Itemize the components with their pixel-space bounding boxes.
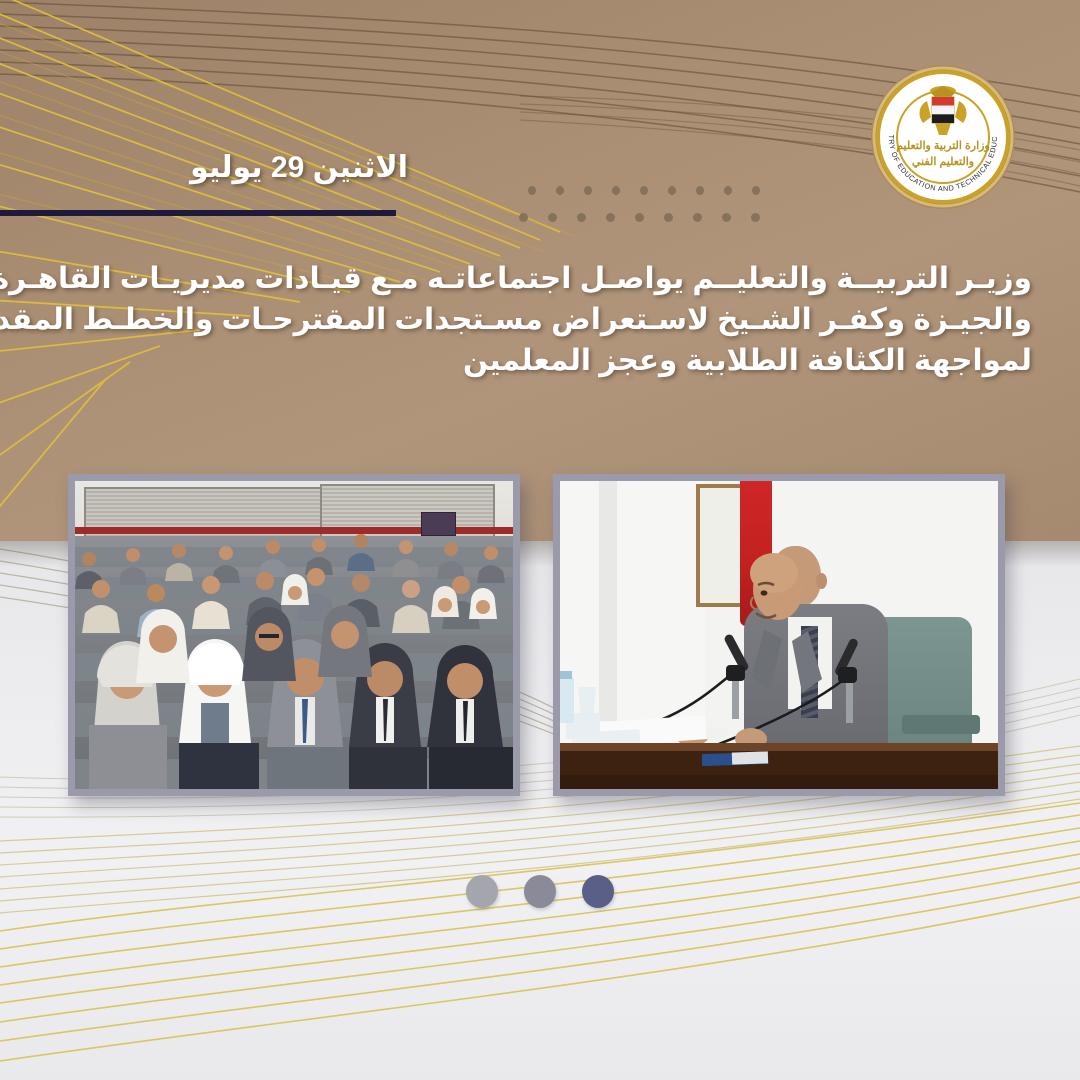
grid-dot — [668, 186, 676, 195]
grid-dot — [584, 186, 592, 195]
grid-dot — [606, 213, 615, 222]
minister-scene — [560, 481, 998, 789]
grid-dot — [693, 213, 702, 222]
grid-dot — [612, 186, 620, 195]
audience-figures — [75, 481, 513, 789]
desk-surface — [560, 743, 998, 789]
decorative-dot-grid — [528, 186, 780, 230]
ministry-seal-icon: وزارة التربية والتعليم والتعليم الفني MI… — [869, 63, 1017, 211]
auditorium-scene — [75, 481, 513, 789]
minister-lapels — [752, 629, 822, 693]
minister-details — [560, 481, 998, 789]
grid-dot — [696, 186, 704, 195]
headline-line-1: وزيـر التربيــة والتعليــم يواصـل اجتماع… — [48, 258, 1032, 299]
grid-dot — [640, 186, 648, 195]
photo-auditorium-audience[interactable] — [68, 474, 520, 796]
grid-dot — [548, 213, 557, 222]
pagination-dot-1[interactable] — [582, 875, 614, 908]
headline-line-3: لمواجهة الكثافة الطلابية وعجز المعلمين — [48, 340, 1032, 381]
grid-dot — [556, 186, 564, 195]
minister-face — [750, 553, 803, 620]
pagination-dot-3[interactable] — [466, 875, 498, 908]
svg-text:وزارة التربية والتعليم: وزارة التربية والتعليم — [896, 140, 990, 152]
grid-dot — [664, 213, 673, 222]
grid-dot — [528, 186, 536, 195]
headline-line-2: والجيـزة وكفـر الشـيخ لاسـتعراض مسـتجدات… — [48, 299, 1032, 340]
grid-dot — [635, 213, 644, 222]
date-badge: الاثنين 29 يوليو — [190, 150, 408, 185]
pagination-dots[interactable] — [466, 870, 614, 912]
grid-dot — [724, 186, 732, 195]
dot-grid-row — [518, 213, 780, 222]
poster-canvas: الاثنين 29 يوليو — [0, 0, 1080, 1080]
grid-dot — [722, 213, 731, 222]
grid-dot — [577, 213, 586, 222]
pagination-dot-2[interactable] — [524, 875, 556, 908]
ministry-logo: وزارة التربية والتعليم والتعليم الفني MI… — [869, 63, 1017, 211]
svg-text:والتعليم الفني: والتعليم الفني — [912, 156, 974, 169]
grid-dot — [519, 213, 528, 222]
grid-dot — [752, 186, 760, 195]
photo-minister-speaking[interactable] — [553, 474, 1005, 796]
photo-auditorium-inner — [75, 481, 513, 789]
date-label: الاثنين 29 يوليو — [190, 151, 408, 184]
date-underline-rule — [0, 210, 396, 216]
headline-block: وزيـر التربيــة والتعليــم يواصـل اجتماع… — [48, 258, 1032, 381]
grid-dot — [751, 213, 760, 222]
dot-grid-row — [528, 186, 780, 195]
photo-minister-inner — [560, 481, 998, 789]
